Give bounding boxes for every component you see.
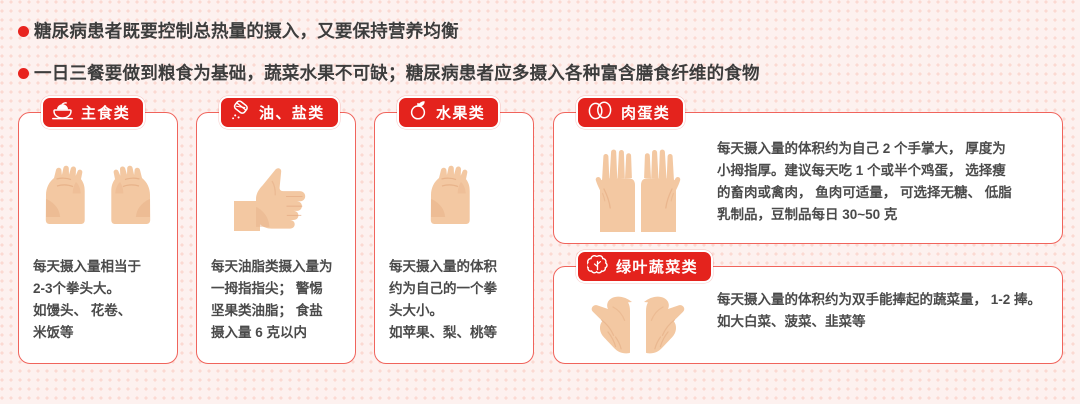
card-body-fruit: 每天摄入量的体积 约为自己的一个拳 头大小。 如苹果、梨、桃等 [389,256,523,343]
badge-staple-food: 主食类 [41,96,145,129]
apple-icon [408,100,428,125]
rice-bowl-icon [52,101,73,125]
badge-label-leafy-vegetable: 绿叶蔬菜类 [616,256,698,277]
single-fist-illustration [375,151,533,246]
badge-label-meat-egg: 肉蛋类 [621,102,670,123]
bullet-text-1: 糖尿病患者既要控制总热量的摄入，又要保持营养均衡 [34,21,459,42]
card-meat-egg: 肉蛋类 [553,112,1063,244]
card-body-meat-egg: 每天摄入量的体积约为自己 2 个手掌大， 厚度为 小拇指厚。建议每天吃 1 个或… [717,138,1048,225]
card-staple-food: 主食类 每天摄入量相当于 2-3个拳头大。 如馒头、 花卷、 米饭等 [18,112,178,364]
card-leafy-vegetable: 绿叶蔬菜类 每天摄入量的体积约为双手能捧起的蔬菜量， 1-2 捧。 如大白菜、菠… [553,266,1063,364]
salt-shaker-icon [230,100,251,125]
two-cupped-hands-illustration [568,289,708,363]
two-open-palms-illustration [568,137,708,241]
badge-fruit: 水果类 [397,96,500,129]
bullet-dot-icon [18,26,29,37]
badge-leafy-vegetable: 绿叶蔬菜类 [576,250,713,283]
badge-label-staple-food: 主食类 [81,102,130,123]
badge-label-fruit: 水果类 [436,102,485,123]
thumbs-up-illustration [197,151,355,246]
bullet-dot-icon [18,68,29,79]
header-bullets: 糖尿病患者既要控制总热量的摄入，又要保持营养均衡 一日三餐要做到粮食为基础，蔬菜… [18,10,1063,94]
badge-oil-salt: 油、盐类 [219,96,340,129]
card-body-oil-salt: 每天油脂类摄入量为 一拇指指尖； 警惕 坚果类油脂； 食盐 摄入量 6 克以内 [211,256,345,343]
two-eggs-icon [587,101,613,125]
badge-meat-egg: 肉蛋类 [576,96,685,129]
card-oil-salt: 油、盐类 每天油脂类摄入量为 一拇指指尖； 警惕 坚果类油脂； 食盐 摄入量 6… [196,112,356,364]
bullet-text-2: 一日三餐要做到粮食为基础，蔬菜水果不可缺；糖尿病患者应多摄入各种富含膳食纤维的食… [34,63,760,84]
two-fists-illustration [19,151,177,246]
badge-label-oil-salt: 油、盐类 [259,102,325,123]
card-body-leafy-vegetable: 每天摄入量的体积约为双手能捧起的蔬菜量， 1-2 捧。 如大白菜、菠菜、韭菜等 [717,289,1048,333]
leafy-vegetable-icon [587,254,608,279]
card-fruit: 水果类 每天摄入量的体积 约为自己的一个拳 头大小。 如苹果、梨、桃等 [374,112,534,364]
card-body-staple-food: 每天摄入量相当于 2-3个拳头大。 如馒头、 花卷、 米饭等 [33,256,167,343]
bullet-line-1: 糖尿病患者既要控制总热量的摄入，又要保持营养均衡 [18,10,1063,52]
bullet-line-2: 一日三餐要做到粮食为基础，蔬菜水果不可缺；糖尿病患者应多摄入各种富含膳食纤维的食… [18,52,1063,94]
